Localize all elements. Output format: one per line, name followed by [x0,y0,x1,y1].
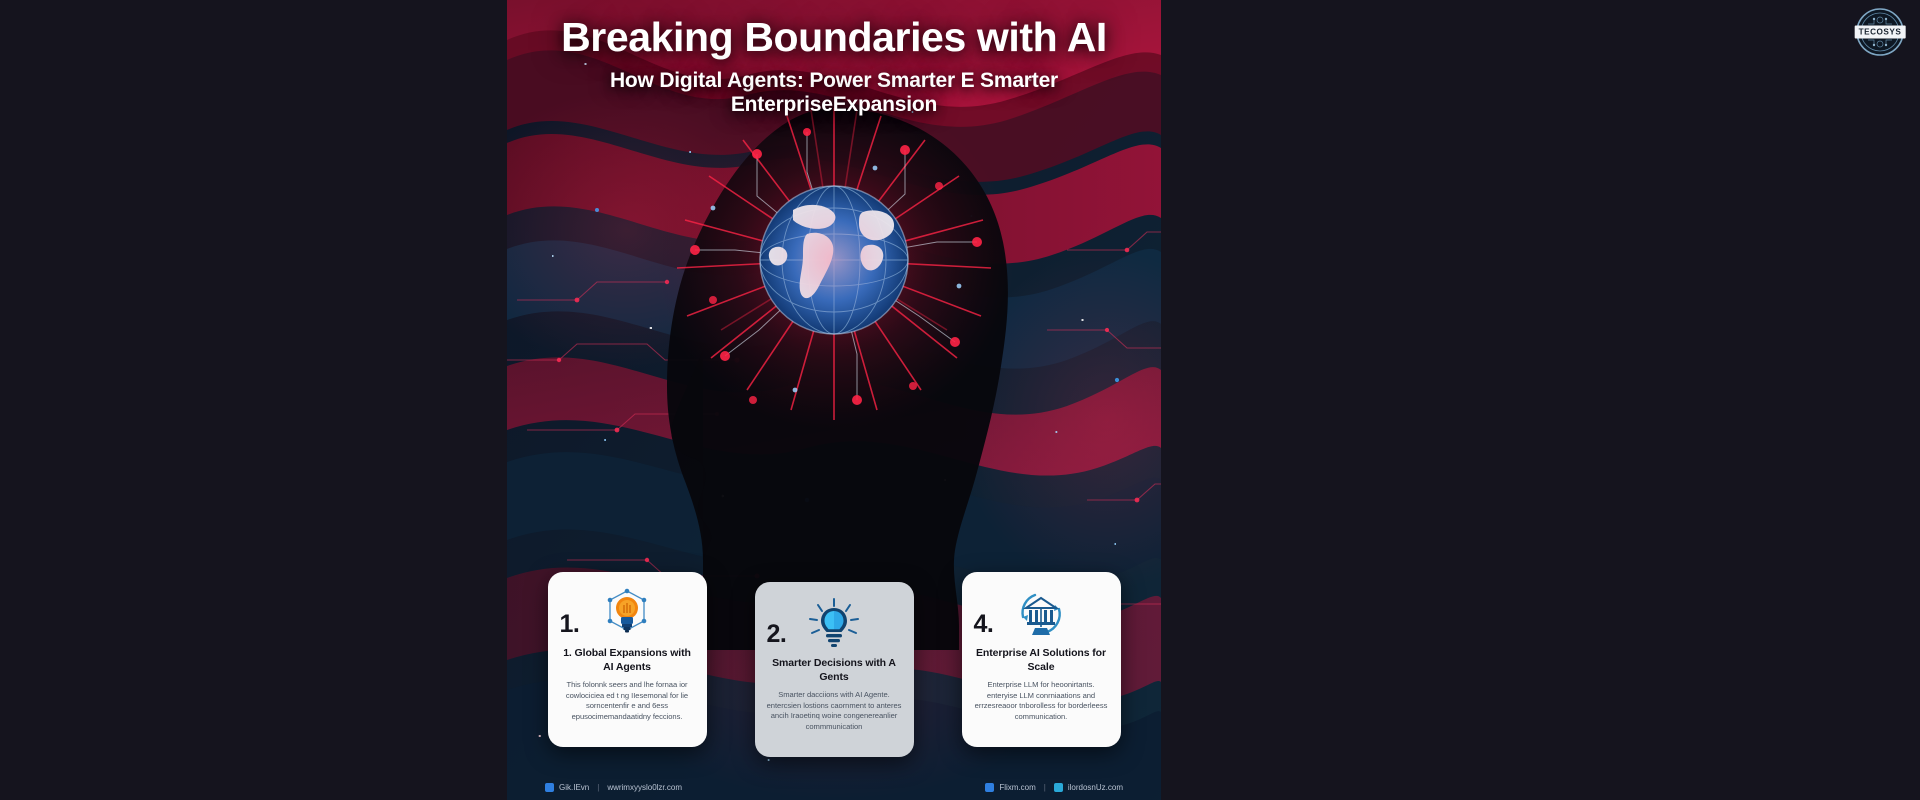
lightbulb-hexagon-network-icon [599,586,655,644]
footer-left: Gik.IEvn | wwrimxyyslo0lzr.com [545,783,682,792]
card-number: 4. [974,610,994,639]
footer-right-website[interactable]: ilordosnUz.com [1068,783,1123,792]
head-silhouette-svg [507,90,1161,650]
feature-card-1[interactable]: 1. 1. Global Expansions with AI Agents T… [548,572,707,747]
poster-footer: Gik.IEvn | wwrimxyyslo0lzr.com Flixm.com… [507,783,1161,792]
footer-right: Flixm.com | ilordosnUz.com [985,783,1123,792]
poster-header: Breaking Boundaries with AI How Digital … [507,14,1161,117]
feature-card-2[interactable]: 2. Smarter Decisions with A Gents Smarte… [755,582,914,757]
logo-text: TECOSYS [1855,26,1906,39]
footer-separator: | [597,783,599,792]
page-title: Breaking Boundaries with AI [507,14,1161,61]
footer-left-handle[interactable]: Gik.IEvn [559,783,589,792]
card-body-text: Enterprise LLM for heoonirtants. enteryi… [974,680,1109,723]
footer-right-handle[interactable]: Flixm.com [999,783,1035,792]
poster-canvas: Breaking Boundaries with AI How Digital … [507,0,1161,800]
enterprise-building-cycle-icon [1013,586,1069,644]
card-title: Smarter Decisions with A Gents [767,657,902,685]
card-title: 1. Global Expansions with AI Agents [560,647,695,675]
card-body-text: This folonnk seers and lhe fornaa ior co… [560,680,695,723]
feature-card-3[interactable]: 4. Enterprise AI Solutions for Scale Ent… [962,572,1121,747]
footer-separator: | [1044,783,1046,792]
footer-left-website[interactable]: wwrimxyyslo0lzr.com [607,783,682,792]
lightbulb-rays-icon [806,596,862,654]
card-body-text: Smarter dacciions with AI Agente. enterc… [767,690,902,733]
page-subtitle: How Digital Agents: Power Smarter E Smar… [507,69,1161,117]
card-title: Enterprise AI Solutions for Scale [974,647,1109,675]
facebook-icon[interactable] [545,783,554,792]
globe-icon[interactable] [1054,783,1063,792]
card-number: 2. [767,620,787,649]
tecosys-logo[interactable]: TECOSYS [1854,6,1906,58]
head-illustration [507,90,1161,650]
card-number: 1. [560,610,580,639]
feature-card-list: 1. 1. Global Expansions with AI Agents T… [507,572,1161,757]
facebook-icon[interactable] [985,783,994,792]
